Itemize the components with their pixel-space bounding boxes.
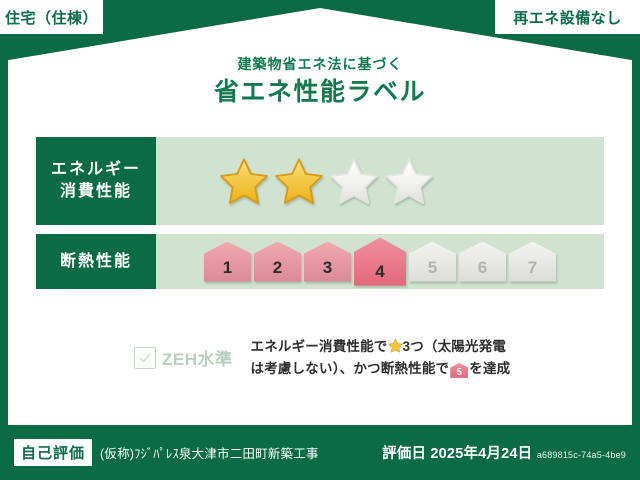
insulation-level-filled: 1 <box>204 242 251 282</box>
title-block: 建築物省エネ法に基づく 省エネ性能ラベル <box>0 56 640 107</box>
project-name: (仮称)ﾌｼﾞﾊﾟﾚｽ泉大津市二田町新築工事 <box>100 443 319 462</box>
insulation-level-number: 5 <box>428 258 437 278</box>
row-energy-label: エネルギー 消費性能 <box>36 137 156 225</box>
zeh-tag-label: ZEH水準 <box>162 345 233 370</box>
star-filled-icon <box>218 156 270 206</box>
star-empty-icon <box>383 156 435 206</box>
zeh-tag: ZEH水準 <box>134 345 233 370</box>
row-insulation-performance: 断熱性能 1234567 <box>36 234 604 289</box>
label-subtitle: 建築物省エネ法に基づく <box>0 56 640 73</box>
row-energy-label-line2: 消費性能 <box>60 181 132 203</box>
inline-star-icon <box>388 338 403 353</box>
insulation-level-number: 3 <box>323 258 332 278</box>
insulation-level-number: 1 <box>223 258 232 278</box>
badge-renewable-energy: 再エネ設備なし <box>495 0 640 34</box>
insulation-level-empty: 6 <box>459 242 506 282</box>
insulation-level-current: 4 <box>354 238 406 286</box>
zeh-text-part4: を達成 <box>469 361 510 376</box>
insulation-level-number: 2 <box>273 258 282 278</box>
self-evaluation-badge: 自己評価 <box>14 439 92 466</box>
insulation-level-number: 6 <box>478 258 487 278</box>
insulation-level-number: 7 <box>528 258 537 278</box>
badge-building-type: 住宅（住棟） <box>0 0 103 34</box>
performance-rows: エネルギー 消費性能 断熱性能 1234567 <box>36 137 604 298</box>
insulation-level-scale: 1234567 <box>156 234 604 289</box>
insulation-level-empty: 7 <box>509 242 556 282</box>
inline-level-badge-number: 5 <box>450 363 468 382</box>
footer-bar: 自己評価 (仮称)ﾌｼﾞﾊﾟﾚｽ泉大津市二田町新築工事 評価日 2025年4月2… <box>0 425 640 480</box>
zeh-text-part1: エネルギー消費性能で <box>251 339 388 354</box>
row-insulation-label: 断熱性能 <box>36 234 156 289</box>
evaluation-date: 評価日 2025年4月24日 <box>382 446 532 462</box>
row-energy-consumption: エネルギー 消費性能 <box>36 137 604 225</box>
insulation-level-empty: 5 <box>409 242 456 282</box>
zeh-text-part2: 3つ（太陽光発電 <box>403 339 507 354</box>
label-title: 省エネ性能ラベル <box>0 77 640 107</box>
zeh-note: ZEH水準 エネルギー消費性能で 3つ（太陽光発電 は考慮しない）、かつ断熱性能… <box>36 336 604 380</box>
row-energy-label-line1: エネルギー <box>51 159 141 181</box>
insulation-level-filled: 3 <box>304 242 351 282</box>
zeh-checkbox-icon <box>134 347 156 369</box>
star-filled-icon <box>273 156 325 206</box>
star-rating <box>156 137 604 225</box>
insulation-level-filled: 2 <box>254 242 301 282</box>
evaluation-id: a689815c-74a5-4be9 <box>537 450 626 460</box>
evaluation-meta: 評価日 2025年4月24日 a689815c-74a5-4be9 <box>382 442 626 463</box>
zeh-text-part3: は考慮しない）、かつ断熱性能で <box>251 361 450 376</box>
zeh-description: エネルギー消費性能で 3つ（太陽光発電 は考慮しない）、かつ断熱性能で 5 を達… <box>251 336 511 380</box>
energy-label-root: 住宅（住棟） 再エネ設備なし 建築物省エネ法に基づく 省エネ性能ラベル エネルギ… <box>0 0 640 480</box>
insulation-level-number: 4 <box>375 262 384 282</box>
star-empty-icon <box>328 156 380 206</box>
inline-level-badge: 5 <box>450 363 468 378</box>
